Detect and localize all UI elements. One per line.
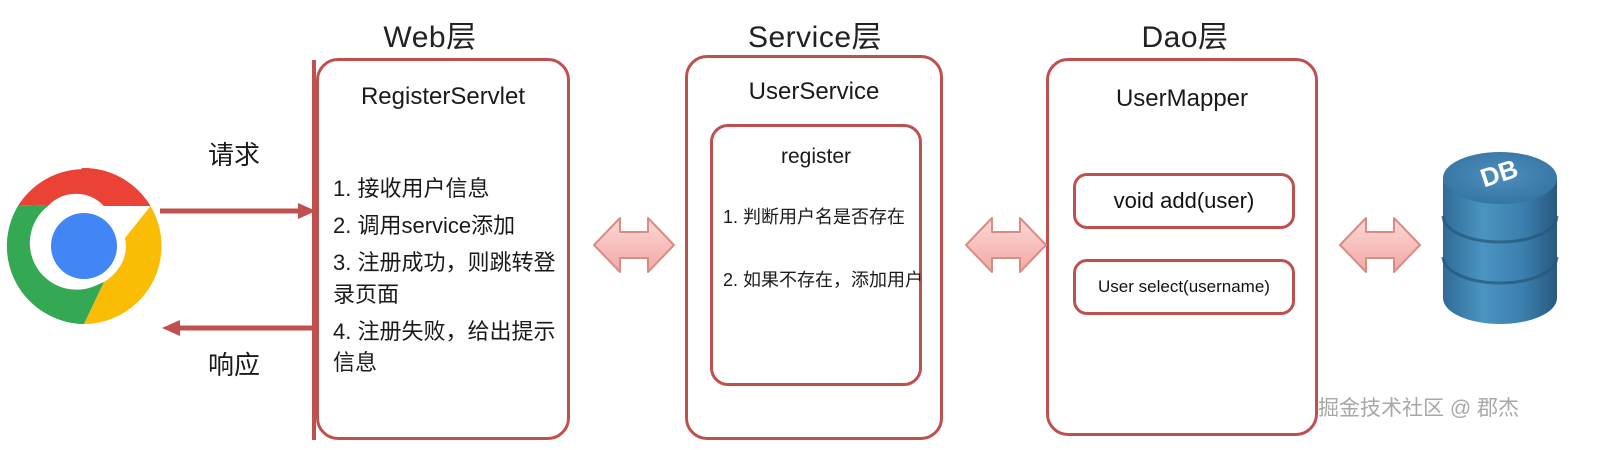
service-step-2: 2. 如果不存在，添加用户 bbox=[723, 268, 919, 293]
database-label: DB bbox=[1477, 153, 1522, 193]
request-arrow bbox=[160, 60, 316, 440]
layer-title-dao: Dao层 bbox=[1085, 12, 1285, 56]
service-step-1: 1. 判断用户名是否存在 bbox=[723, 205, 919, 230]
service-step-list: 1. 判断用户名是否存在 2. 如果不存在，添加用户 bbox=[723, 205, 919, 331]
web-step-3: 3. 注册成功，则跳转登录页面 bbox=[333, 247, 561, 309]
dao-method-select-box[interactable]: User select(username) bbox=[1073, 259, 1295, 315]
diagram-canvas: Web层 Service层 Dao层 RegisterServlet 1. 接收… bbox=[0, 0, 1603, 450]
web-step-4: 4. 注册失败，给出提示信息 bbox=[333, 316, 561, 378]
dao-layer-box[interactable]: UserMapper void add(user) User select(us… bbox=[1046, 58, 1318, 436]
dao-database-bidirectional-arrow[interactable] bbox=[1340, 218, 1420, 272]
dao-method-add-label: void add(user) bbox=[1114, 188, 1255, 214]
database-icon: DB bbox=[1443, 152, 1557, 324]
web-step-2: 2. 调用service添加 bbox=[333, 210, 561, 241]
layer-title-web: Web层 bbox=[330, 12, 530, 56]
service-method-name: register bbox=[713, 145, 919, 169]
web-class-name: RegisterServlet bbox=[319, 83, 567, 111]
web-step-list: 1. 接收用户信息 2. 调用service添加 3. 注册成功，则跳转登录页面… bbox=[333, 173, 561, 384]
response-arrow bbox=[162, 320, 314, 336]
response-arrow-label: 响应 bbox=[208, 345, 260, 382]
service-register-method-box[interactable]: register 1. 判断用户名是否存在 2. 如果不存在，添加用户 bbox=[710, 124, 922, 386]
service-layer-box[interactable]: UserService register 1. 判断用户名是否存在 2. 如果不… bbox=[685, 55, 943, 440]
request-arrow-label: 请求 bbox=[208, 135, 260, 172]
dao-method-select-label: User select(username) bbox=[1098, 277, 1270, 297]
service-class-name: UserService bbox=[688, 78, 940, 106]
watermark-text: 掘金技术社区 @ 郡杰 bbox=[1318, 392, 1519, 422]
dao-class-name: UserMapper bbox=[1049, 85, 1315, 113]
chrome-browser-icon bbox=[7, 168, 162, 324]
web-layer-box[interactable]: RegisterServlet 1. 接收用户信息 2. 调用service添加… bbox=[316, 58, 570, 440]
dao-method-add-box[interactable]: void add(user) bbox=[1073, 173, 1295, 229]
layer-title-service: Service层 bbox=[705, 12, 925, 56]
web-step-1: 1. 接收用户信息 bbox=[333, 173, 561, 204]
service-dao-bidirectional-arrow[interactable] bbox=[966, 218, 1046, 272]
web-service-bidirectional-arrow[interactable] bbox=[594, 218, 674, 272]
